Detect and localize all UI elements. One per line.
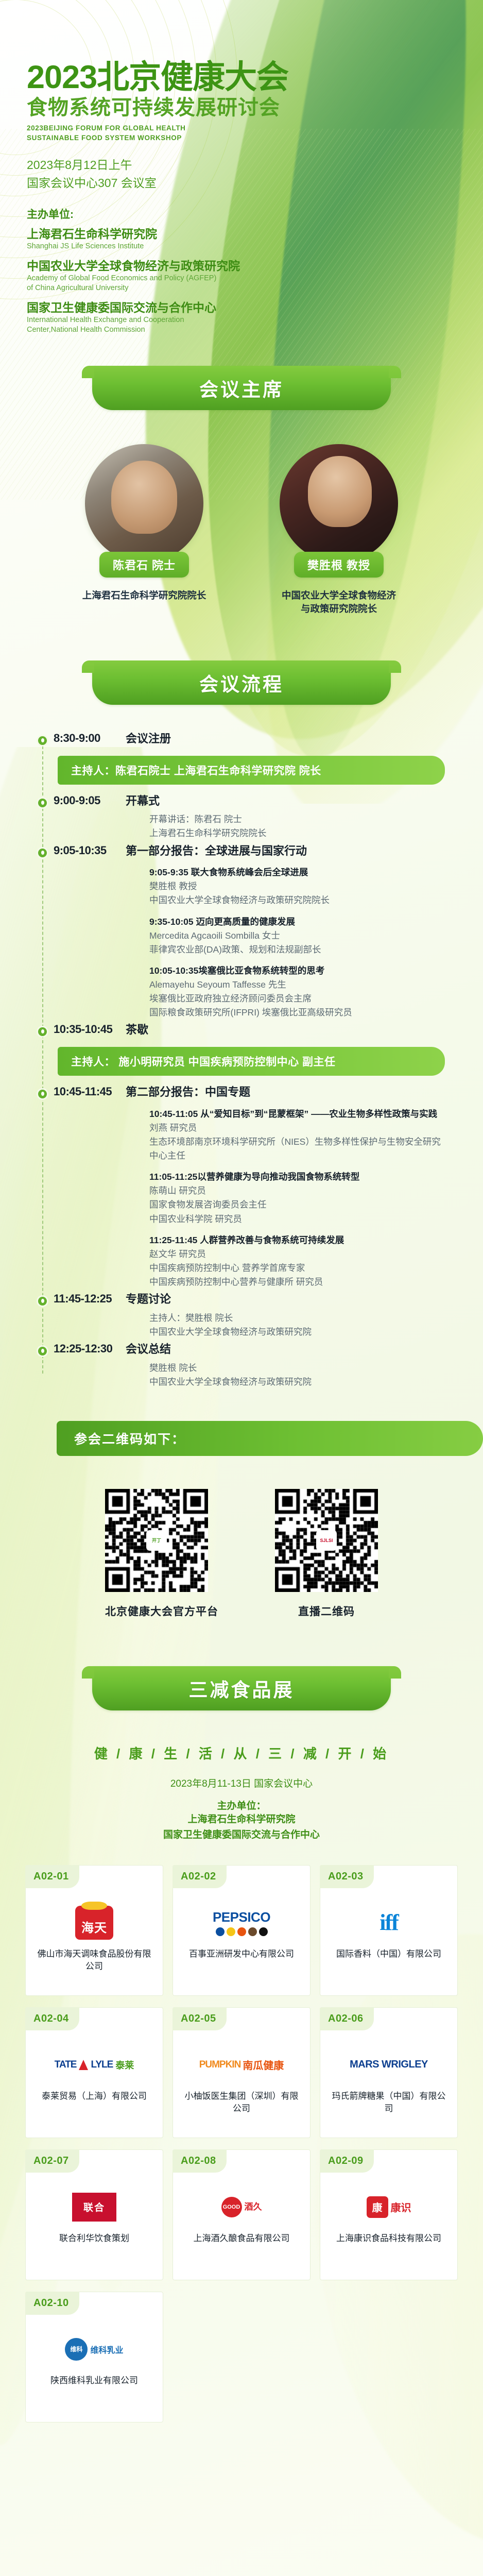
mars-wrigley-logo: MARS WRIGLEY <box>350 2059 428 2071</box>
schedule-time: 10:35-10:45 <box>54 1023 122 1036</box>
exhibitor-logo: GOOD酒久 <box>221 2189 262 2225</box>
booth-number: A02-01 <box>25 1865 79 1888</box>
speaker-line: 生态环境部南京环境科学研究所（NIES）生物多样性保护与生物安全研究中心主任 <box>149 1135 447 1163</box>
exhibitor-name: 小柚饭医生集团（深圳）有限公司 <box>173 2090 310 2115</box>
booth-number: A02-08 <box>173 2149 227 2173</box>
booth-number: A02-04 <box>25 2007 79 2030</box>
exhibitor-name: 上海康识食品科技有限公司 <box>327 2232 451 2245</box>
unilever-logo: 联合 <box>72 2193 116 2222</box>
schedule-row: 12:25-12:30会议总结樊胜根 院长中国农业大学全球食物经济与政策研究院 <box>0 1342 462 1389</box>
expo-date-venue: 2023年8月11-13日 国家会议中心 <box>0 1776 483 1790</box>
organizer-name-cn: 国家卫生健康委国际交流与合作中心 <box>27 300 483 315</box>
schedule-row-head: 8:30-9:00会议注册 <box>0 732 462 747</box>
qr-code-image[interactable]: 开丁 <box>105 1489 208 1592</box>
speaker-line: 开幕讲话：陈君石 院士 <box>149 812 447 826</box>
english-title-line1: 2023BEIJING FORUM FOR GLOBAL HEALTH <box>27 124 483 133</box>
chair-role: 上海君石生命科学研究院院长 <box>67 589 221 603</box>
good-logo: GOOD酒久 <box>221 2197 262 2217</box>
event-venue: 国家会议中心307 会议室 <box>27 175 483 192</box>
qr-center-logo: 开丁 <box>146 1530 167 1551</box>
pumpkin-logo: PUMPKIN南瓜健康 <box>199 2057 284 2072</box>
schedule-timeline: 8:30-9:00会议注册主持人：陈君石院士 上海君石生命科学研究院 院长9:0… <box>0 732 483 1389</box>
speaker-line: 中国农业大学全球食物经济与政策研究院 <box>149 1325 447 1339</box>
organizer-label: 主办单位: <box>27 206 483 222</box>
booth-number: A02-06 <box>320 2007 374 2030</box>
speaker-line: 埃塞俄比亚政府独立经济顾问委员会主席 <box>149 992 447 1006</box>
schedule-banner-label: 会议流程 <box>199 669 284 697</box>
schedule-detail: 9:05-9:35 联大食物系统峰会后全球进展樊胜根 教授中国农业大学全球食物经… <box>149 866 462 1020</box>
shaanxi-logo: 维科维科乳业 <box>65 2338 123 2361</box>
avatar <box>280 444 398 563</box>
expo-organizer-1: 上海君石生命科学研究院 <box>0 1812 483 1827</box>
speaker-line: 赵文华 研究员 <box>149 1247 447 1261</box>
organizer-item: 国家卫生健康委国际交流与合作中心 International Health Ex… <box>27 300 483 335</box>
organizer-name-en: Academy of Global Food Economics and Pol… <box>27 274 483 293</box>
chair-role: 中国农业大学全球食物经济 与政策研究院院长 <box>262 589 416 617</box>
schedule-title: 专题讨论 <box>126 1292 171 1307</box>
tate-lyle-logo: TATELYLE泰莱 <box>55 2058 134 2072</box>
exhibitor-card[interactable]: A02-07联合联合利华饮食策划 <box>25 2149 163 2280</box>
schedule-time: 12:25-12:30 <box>54 1342 122 1355</box>
exhibitor-logo: iff <box>380 1905 398 1941</box>
expo-organizer-label: 主办单位： <box>0 1798 483 1812</box>
speaker-line: 菲律宾农业部(DA)政策、规划和法规副部长 <box>149 943 447 957</box>
schedule-row: 10:35-10:45茶歇 <box>0 1023 462 1038</box>
speaker-line: 中国疾病预防控制中心 营养学首席专家 <box>149 1261 447 1275</box>
schedule-title: 会议总结 <box>126 1342 171 1357</box>
chairs-banner-wrap: 会议主席 <box>0 366 483 410</box>
chairs-banner-label: 会议主席 <box>199 374 284 402</box>
exhibitor-grid: A02-01海天佛山市海天调味食品股份有限公司A02-02PEPSICO百事亚洲… <box>0 1865 483 2422</box>
english-title-line2: SUSTAINABLE FOOD SYSTEM WORKSHOP <box>27 133 483 143</box>
schedule-row-head: 12:25-12:30会议总结 <box>0 1342 462 1357</box>
chairs-list: 陈君石 院士 上海君石生命科学研究院院长 樊胜根 教授 中国农业大学全球食物经济… <box>0 444 483 617</box>
qr-item[interactable]: SJLSI 直播二维码 <box>275 1489 378 1619</box>
booth-number: A02-09 <box>320 2149 374 2173</box>
booth-number: A02-02 <box>173 1865 227 1888</box>
schedule-title: 第一部分报告：全球进展与国家行动 <box>126 844 307 859</box>
qr-center-logo: SJLSI <box>316 1530 337 1551</box>
speaker-line: 樊胜根 教授 <box>149 879 447 893</box>
timeline-dot-icon <box>38 1297 47 1306</box>
schedule-time: 11:45-12:25 <box>54 1292 122 1306</box>
chairs-banner: 会议主席 <box>92 366 391 410</box>
schedule-row-head: 11:45-12:25专题讨论 <box>0 1292 462 1307</box>
talk-title: 10:05-10:35埃塞俄比亚食物系统转型的思考 <box>149 964 447 978</box>
organizer-name-cn: 上海君石生命科学研究院 <box>27 227 483 241</box>
qr-list: 开丁 北京健康大会官方平台 SJLSI 直播二维码 <box>0 1489 483 1619</box>
organizer-name-cn: 中国农业大学全球食物经济与政策研究院 <box>27 259 483 273</box>
organizer-item: 中国农业大学全球食物经济与政策研究院 Academy of Global Foo… <box>27 259 483 293</box>
exhibitor-name: 陕西维科乳业有限公司 <box>41 2375 147 2387</box>
timeline-dot-icon <box>38 1347 47 1355</box>
exhibitor-logo: 联合 <box>72 2189 116 2225</box>
schedule-row: 9:00-9:05开幕式开幕讲话：陈君石 院士上海君石生命科学研究院院长 <box>0 794 462 841</box>
schedule-detail: 樊胜根 院长中国农业大学全球食物经济与政策研究院 <box>149 1361 462 1389</box>
booth-number: A02-07 <box>25 2149 79 2173</box>
exhibitor-card[interactable]: A02-08GOOD酒久上海酒久酿食品有限公司 <box>173 2149 310 2280</box>
speaker-line: 中国农业大学全球食物经济与政策研究院 <box>149 1375 447 1389</box>
exhibitor-name: 玛氏箭牌糖果（中国）有限公司 <box>320 2090 457 2115</box>
schedule-title: 茶歇 <box>126 1023 148 1038</box>
chair-card: 陈君石 院士 上海君石生命科学研究院院长 <box>67 444 221 617</box>
talk-title: 10:45-11:05 从“爱知目标”到“昆蒙框架” ——农业生物多样性政策与实… <box>149 1107 447 1121</box>
talk-title: 11:05-11:25以营养健康为导向推动我国食物系统转型 <box>149 1170 447 1184</box>
schedule-detail: 10:45-11:05 从“爱知目标”到“昆蒙框架” ——农业生物多样性政策与实… <box>149 1107 462 1290</box>
session-host-bar: 主持人： 施小明研究员 中国疾病预防控制中心 副主任 <box>58 1047 445 1076</box>
speaker-line: Alemayehu Seyoum Taffesse 先生 <box>149 978 447 992</box>
exhibitor-card[interactable]: A02-03iff国际香料（中国）有限公司 <box>320 1865 458 1996</box>
exhibitor-logo: 海天 <box>75 1905 113 1941</box>
schedule-time: 9:00-9:05 <box>54 794 122 807</box>
schedule-time: 10:45-11:45 <box>54 1085 122 1098</box>
expo-banner-wrap: 三减食品展 <box>0 1666 483 1710</box>
avatar <box>85 444 203 563</box>
schedule-title: 会议注册 <box>126 732 171 747</box>
schedule-row: 11:45-12:25专题讨论主持人：樊胜根 院长中国农业大学全球食物经济与政策… <box>0 1292 462 1339</box>
schedule-title: 开幕式 <box>126 794 160 809</box>
exhibitor-card[interactable]: A02-09康康识上海康识食品科技有限公司 <box>320 2149 458 2280</box>
schedule-banner-wrap: 会议流程 <box>0 660 483 705</box>
iff-logo: iff <box>380 1909 398 1936</box>
schedule-row-head: 10:45-11:45第二部分报告：中国专题 <box>0 1085 462 1100</box>
exhibitor-name: 国际香料（中国）有限公司 <box>327 1948 451 1961</box>
speaker-line: 国家食物发展咨询委员会主任 <box>149 1198 447 1212</box>
timeline-dot-icon <box>38 849 47 857</box>
expo-tagline: 健 / 康 / 生 / 活 / 从 / 三 / 减 / 开 / 始 <box>0 1743 483 1762</box>
booth-number: A02-10 <box>25 2292 79 2315</box>
chair-name-badge: 陈君石 院士 <box>99 552 189 578</box>
exhibitor-logo: PEPSICO <box>213 1905 270 1941</box>
schedule-time: 8:30-9:00 <box>54 732 122 745</box>
timeline-dot-icon <box>38 1090 47 1098</box>
talk-title: 11:25-11:45 人群营养改善与食物系统可持续发展 <box>149 1233 447 1247</box>
exhibitor-name: 佛山市海天调味食品股份有限公司 <box>26 1948 163 1973</box>
speaker-line: 陈萌山 研究员 <box>149 1184 447 1198</box>
pepsico-logo: PEPSICO <box>213 1909 270 1936</box>
exhibitor-logo: PUMPKIN南瓜健康 <box>199 2047 284 2083</box>
schedule-time: 9:05-10:35 <box>54 844 122 857</box>
exhibitor-card[interactable]: A02-06MARS WRIGLEY玛氏箭牌糖果（中国）有限公司 <box>320 2007 458 2138</box>
speaker-line: 中国农业大学全球食物经济与政策研究院院长 <box>149 893 447 907</box>
expo-banner: 三减食品展 <box>92 1666 391 1710</box>
speaker-line: 中国农业科学院 研究员 <box>149 1212 447 1226</box>
exhibitor-card[interactable]: A02-01海天佛山市海天调味食品股份有限公司 <box>25 1865 163 1996</box>
qr-caption: 直播二维码 <box>275 1603 378 1619</box>
schedule-rows: 8:30-9:00会议注册主持人：陈君石院士 上海君石生命科学研究院 院长9:0… <box>0 732 462 1389</box>
schedule-detail: 主持人：樊胜根 院长中国农业大学全球食物经济与政策研究院 <box>149 1311 462 1339</box>
expo-organizer-2: 国家卫生健康委国际交流与合作中心 <box>0 1827 483 1843</box>
speaker-line: Mercedita Agcaoili Sombilla 女士 <box>149 929 447 943</box>
exhibitor-logo: 维科维科乳业 <box>65 2331 123 2367</box>
schedule-banner: 会议流程 <box>92 660 391 705</box>
event-date: 2023年8月12日上午 <box>27 157 483 174</box>
schedule-row: 10:45-11:45第二部分报告：中国专题10:45-11:05 从“爱知目标… <box>0 1085 462 1289</box>
page-subtitle: 食物系统可持续发展研讨会 <box>27 97 483 118</box>
organizer-name-en: International Health Exchange and Cooper… <box>27 315 483 335</box>
chair-card: 樊胜根 教授 中国农业大学全球食物经济 与政策研究院院长 <box>262 444 416 617</box>
haitian-logo: 海天 <box>75 1906 113 1940</box>
schedule-row-head: 9:05-10:35第一部分报告：全球进展与国家行动 <box>0 844 462 859</box>
exhibitor-name: 上海酒久酿食品有限公司 <box>184 2232 299 2245</box>
expo-banner-label: 三减食品展 <box>189 1674 295 1702</box>
speaker-line: 樊胜根 院长 <box>149 1361 447 1375</box>
exhibitor-name: 泰莱贸易（上海）有限公司 <box>32 2090 156 2103</box>
qr-section-bar: 参会二维码如下： <box>57 1421 483 1456</box>
session-host-bar: 主持人：陈君石院士 上海君石生命科学研究院 院长 <box>58 756 445 785</box>
speaker-line: 主持人：樊胜根 院长 <box>149 1311 447 1325</box>
schedule-row-head: 10:35-10:45茶歇 <box>0 1023 462 1038</box>
kangshifu-logo: 康康识 <box>367 2196 411 2218</box>
speaker-line: 中国疾病预防控制中心营养与健康所 研究员 <box>149 1275 447 1289</box>
speaker-line: 刘燕 研究员 <box>149 1121 447 1135</box>
exhibitor-card[interactable]: A02-02PEPSICO百事亚洲研发中心有限公司 <box>173 1865 310 1996</box>
speaker-line: 国际粮食政策研究所(IFPRI) 埃塞俄比亚高级研究员 <box>149 1006 447 1020</box>
english-title: 2023BEIJING FORUM FOR GLOBAL HEALTH SUST… <box>27 124 483 143</box>
exhibitor-logo: 康康识 <box>367 2189 411 2225</box>
qr-caption: 北京健康大会官方平台 <box>105 1603 218 1619</box>
qr-item[interactable]: 开丁 北京健康大会官方平台 <box>105 1489 218 1619</box>
page-title: 2023北京健康大会 <box>27 61 483 94</box>
chair-name-badge: 樊胜根 教授 <box>294 552 384 578</box>
exhibitor-logo: TATELYLE泰莱 <box>55 2047 134 2083</box>
speaker-line: 上海君石生命科学研究院院长 <box>149 826 447 840</box>
organizer-item: 上海君石生命科学研究院 Shanghai JS Life Sciences In… <box>27 227 483 251</box>
poster-root: 2023北京健康大会 食物系统可持续发展研讨会 2023BEIJING FORU… <box>0 0 483 2576</box>
organizer-name-en: Shanghai JS Life Sciences Institute <box>27 242 483 251</box>
exhibitor-card[interactable]: A02-05PUMPKIN南瓜健康小柚饭医生集团（深圳）有限公司 <box>173 2007 310 2138</box>
schedule-title: 第二部分报告：中国专题 <box>126 1085 250 1100</box>
exhibitor-card[interactable]: A02-10维科维科乳业陕西维科乳业有限公司 <box>25 2292 163 2422</box>
schedule-row: 8:30-9:00会议注册 <box>0 732 462 747</box>
talk-title: 9:35-10:05 迈向更高质量的健康发展 <box>149 915 447 929</box>
schedule-detail: 开幕讲话：陈君石 院士上海君石生命科学研究院院长 <box>149 812 462 840</box>
exhibitor-name: 联合利华饮食策划 <box>50 2232 139 2245</box>
talk-title: 9:05-9:35 联大食物系统峰会后全球进展 <box>149 866 447 879</box>
hero-section: 2023北京健康大会 食物系统可持续发展研讨会 2023BEIJING FORU… <box>0 0 483 335</box>
exhibitor-card[interactable]: A02-04TATELYLE泰莱泰莱贸易（上海）有限公司 <box>25 2007 163 2138</box>
qr-code-image[interactable]: SJLSI <box>275 1489 378 1592</box>
schedule-row-head: 9:00-9:05开幕式 <box>0 794 462 809</box>
timeline-dot-icon <box>38 799 47 807</box>
exhibitor-name: 百事亚洲研发中心有限公司 <box>180 1948 303 1961</box>
booth-number: A02-03 <box>320 1865 374 1888</box>
exhibitor-logo: MARS WRIGLEY <box>350 2047 428 2083</box>
booth-number: A02-05 <box>173 2007 227 2030</box>
schedule-row: 9:05-10:35第一部分报告：全球进展与国家行动9:05-9:35 联大食物… <box>0 844 462 1020</box>
